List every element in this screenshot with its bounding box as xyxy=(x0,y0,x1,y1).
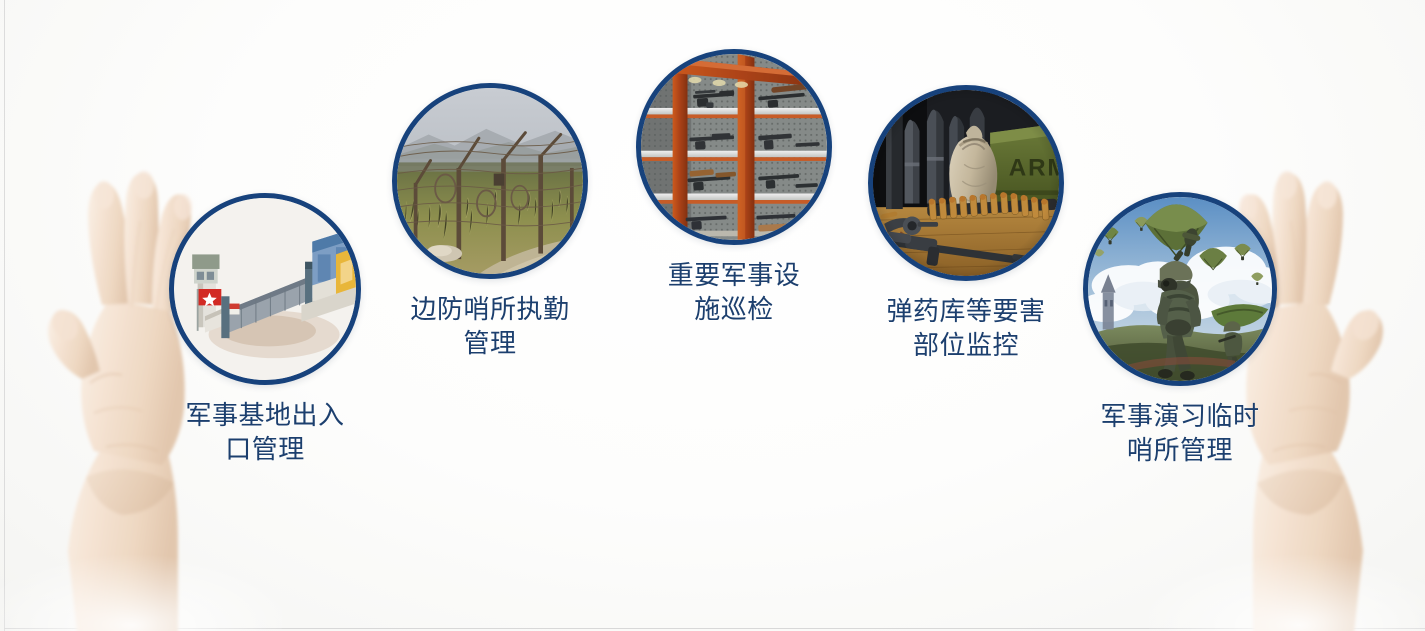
scenario-caption-exercise-temporary-post: 军事演习临时 哨所管理 xyxy=(1040,400,1320,469)
slide-frame-bottom-line xyxy=(4,628,1425,629)
scenario-caption-border-post-duty: 边防哨所执勤 管理 xyxy=(350,293,630,362)
slide-frame-left-line xyxy=(4,0,5,631)
weapons-rack-photo xyxy=(641,54,827,240)
slide-canvas: 军事基地出入 口管理 xyxy=(0,0,1425,631)
ammunition-depot-photo: ARM xyxy=(873,90,1059,276)
military-base-gate-medallion[interactable] xyxy=(169,193,361,385)
border-fence-photo xyxy=(397,88,583,274)
ammunition-depot-medallion[interactable]: ARM xyxy=(868,85,1064,281)
scenario-node-exercise-temporary-post[interactable]: 军事演习临时 哨所管理 xyxy=(1040,192,1320,469)
border-fence-medallion[interactable] xyxy=(392,83,588,279)
military-base-gate-photo xyxy=(174,198,356,380)
paratrooper-exercise-medallion[interactable] xyxy=(1083,192,1277,386)
scenario-caption-military-base-entrance: 军事基地出入 口管理 xyxy=(125,399,405,468)
weapons-rack-medallion[interactable] xyxy=(636,49,832,245)
paratrooper-exercise-photo xyxy=(1088,197,1272,381)
scenario-node-border-post-duty[interactable]: 边防哨所执勤 管理 xyxy=(350,83,630,362)
